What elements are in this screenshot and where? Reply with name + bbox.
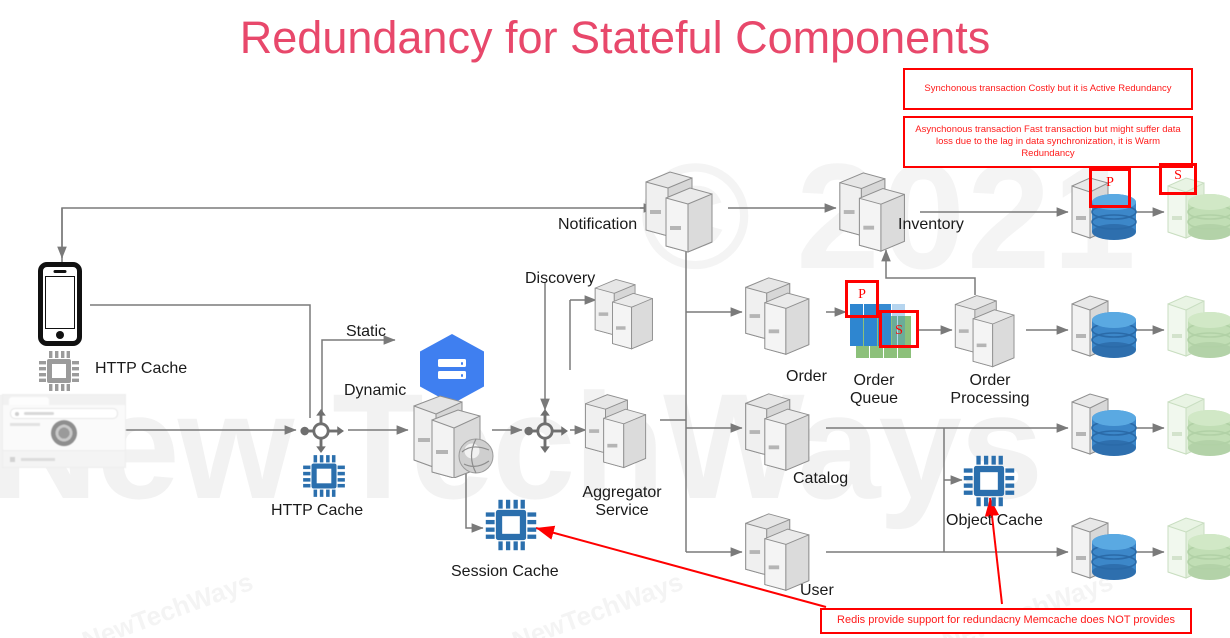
- order-queue-label-line1: Order: [834, 372, 914, 390]
- session-cache[interactable]: [482, 496, 540, 559]
- order-processing-service[interactable]: [950, 288, 1030, 381]
- page-title: Redundancy for Stateful Components: [0, 12, 1230, 64]
- catalog-service[interactable]: [740, 388, 826, 483]
- chip-icon: [960, 452, 1018, 510]
- tag-inventory-primary: P: [1089, 168, 1131, 208]
- annotation-sync-redundancy: Synchonous transaction Costly but it is …: [903, 68, 1193, 110]
- database-primary-icon: [1068, 290, 1140, 366]
- phone-icon: [38, 262, 82, 346]
- db-primary-user[interactable]: [1068, 512, 1140, 593]
- edge-label-static: Static: [346, 323, 386, 341]
- catalog-label: Catalog: [793, 470, 848, 488]
- annotation-async-redundancy: Asynchonous transaction Fast transaction…: [903, 116, 1193, 168]
- notification-service[interactable]: [640, 168, 730, 263]
- session-cache-label: Session Cache: [451, 563, 559, 581]
- chip-icon: [482, 496, 540, 554]
- object-cache-label: Object Cache: [946, 512, 1043, 530]
- order-label: Order: [786, 368, 827, 386]
- order-service[interactable]: [740, 272, 826, 367]
- tag-queue-primary: P: [845, 280, 879, 318]
- tag-inventory-secondary: S: [1159, 163, 1197, 195]
- db-secondary-catalog[interactable]: [1164, 388, 1230, 469]
- aggregator-label-line1: Aggregator: [576, 484, 668, 502]
- chip-icon: [36, 348, 82, 394]
- aggregator-service[interactable]: [580, 388, 662, 481]
- http-cache-web[interactable]: [300, 452, 348, 505]
- discovery-service[interactable]: [590, 272, 668, 363]
- router-icon: [522, 408, 568, 454]
- server-pair-icon: [950, 288, 1030, 376]
- aggregator-label: Aggregator Service: [576, 484, 668, 521]
- server-pair-icon: [740, 388, 826, 478]
- http-cache-mobile[interactable]: [36, 348, 82, 399]
- discovery-label: Discovery: [525, 270, 595, 288]
- chip-icon: [300, 452, 348, 500]
- annotation-redis-memcache: Redis provide support for redundacny Mem…: [820, 608, 1192, 634]
- inventory-label: Inventory: [898, 216, 964, 234]
- browser-window-icon: [2, 394, 126, 468]
- edge-label-dynamic: Dynamic: [344, 382, 406, 400]
- database-secondary-icon: [1164, 512, 1230, 588]
- web-server-icon: [406, 390, 498, 478]
- diagram-canvas: New TechWays © 2021 NewTechWays NewTechW…: [0, 0, 1230, 638]
- db-primary-catalog[interactable]: [1068, 388, 1140, 469]
- router-icon: [298, 408, 344, 454]
- load-balancer-internal[interactable]: [522, 408, 568, 459]
- order-processing-label-line2: Processing: [942, 390, 1038, 408]
- aggregator-label-line2: Service: [576, 502, 668, 520]
- mobile-client[interactable]: [38, 262, 82, 346]
- order-processing-label-line1: Order: [942, 372, 1038, 390]
- server-pair-icon: [590, 272, 668, 358]
- order-processing-label: Order Processing: [942, 372, 1038, 409]
- object-cache[interactable]: [960, 452, 1018, 515]
- order-queue-label-line2: Queue: [834, 390, 914, 408]
- server-pair-icon: [580, 388, 662, 476]
- server-pair-icon: [834, 168, 922, 258]
- http-cache-web-label: HTTP Cache: [271, 502, 363, 520]
- browser-client[interactable]: [2, 394, 126, 468]
- db-secondary-order[interactable]: [1164, 290, 1230, 371]
- database-secondary-icon: [1164, 290, 1230, 366]
- database-primary-icon: [1068, 512, 1140, 588]
- order-queue-label: Order Queue: [834, 372, 914, 409]
- server-pair-icon: [740, 272, 826, 362]
- database-primary-icon: [1068, 388, 1140, 464]
- user-label: User: [800, 582, 834, 600]
- db-secondary-user[interactable]: [1164, 512, 1230, 593]
- http-cache-mobile-label: HTTP Cache: [95, 360, 187, 378]
- tag-queue-secondary: S: [879, 310, 919, 348]
- database-secondary-icon: [1164, 388, 1230, 464]
- server-pair-icon: [640, 168, 730, 258]
- web-server[interactable]: [406, 390, 498, 483]
- notification-label: Notification: [558, 216, 637, 234]
- db-primary-order[interactable]: [1068, 290, 1140, 371]
